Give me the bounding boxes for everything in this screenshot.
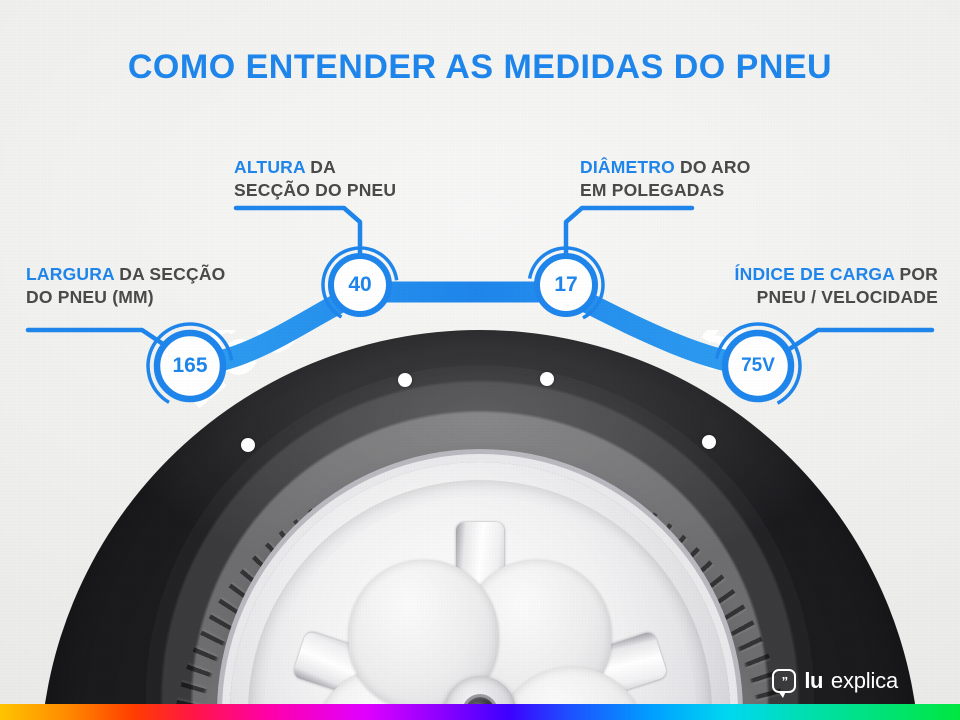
connector-band <box>190 292 758 366</box>
callout-altura-line1: ALTURA DA <box>234 156 396 179</box>
callout-largura-line2: DO PNEU (MM) <box>26 286 225 309</box>
page-title: COMO ENTENDER AS MEDIDAS DO PNEU <box>0 48 960 87</box>
callout-largura-highlight: LARGURA <box>26 264 114 284</box>
rainbow-gradient-bar <box>0 704 960 720</box>
callout-altura-line2: SECÇÃO DO PNEU <box>234 179 396 202</box>
badge-label-indice: 75V <box>741 355 775 377</box>
callout-indice-line2: PNEU / VELOCIDADE <box>735 286 938 309</box>
quote-glyph: ” <box>774 671 794 692</box>
connector-leader-diametro <box>566 208 692 258</box>
logo-brand-light: explica <box>831 668 898 694</box>
callout-diametro-line2: EM POLEGADAS <box>580 179 751 202</box>
logo-brand-bold: lu <box>804 668 823 694</box>
callout-indice-rest1: POR <box>894 264 938 284</box>
badge-label-diametro: 17 <box>554 273 577 297</box>
speech-bubble-quote-icon: ” <box>772 669 796 693</box>
callout-largura: LARGURA DA SECÇÃO DO PNEU (MM) <box>26 263 225 309</box>
connector-leader-indice <box>788 330 932 350</box>
callout-indice-highlight: ÍNDICE DE CARGA <box>735 264 895 284</box>
callout-indice-line1: ÍNDICE DE CARGA POR <box>735 263 938 286</box>
callout-diametro: DIÂMETRO DO ARO EM POLEGADAS <box>580 156 751 202</box>
callout-diametro-line1: DIÂMETRO DO ARO <box>580 156 751 179</box>
badge-label-largura: 165 <box>172 354 207 378</box>
callout-altura-rest1: DA <box>305 157 336 177</box>
connector-leader-altura <box>236 208 360 258</box>
callout-altura: ALTURA DA SECÇÃO DO PNEU <box>234 156 396 202</box>
badge-label-altura: 40 <box>348 273 371 297</box>
callout-indice: ÍNDICE DE CARGA POR PNEU / VELOCIDADE <box>735 263 938 309</box>
callout-largura-rest1: DA SECÇÃO <box>114 264 225 284</box>
callout-diametro-highlight: DIÂMETRO <box>580 157 675 177</box>
callout-largura-line1: LARGURA DA SECÇÃO <box>26 263 225 286</box>
callout-altura-highlight: ALTURA <box>234 157 305 177</box>
infographic-canvas: COMO ENTENDER AS MEDIDAS DO PNEU <box>0 0 960 720</box>
lu-explica-logo: ” lu explica <box>772 668 898 694</box>
callout-connectors <box>0 0 960 720</box>
callout-diametro-rest1: DO ARO <box>675 157 751 177</box>
connector-leader-largura <box>28 330 172 350</box>
